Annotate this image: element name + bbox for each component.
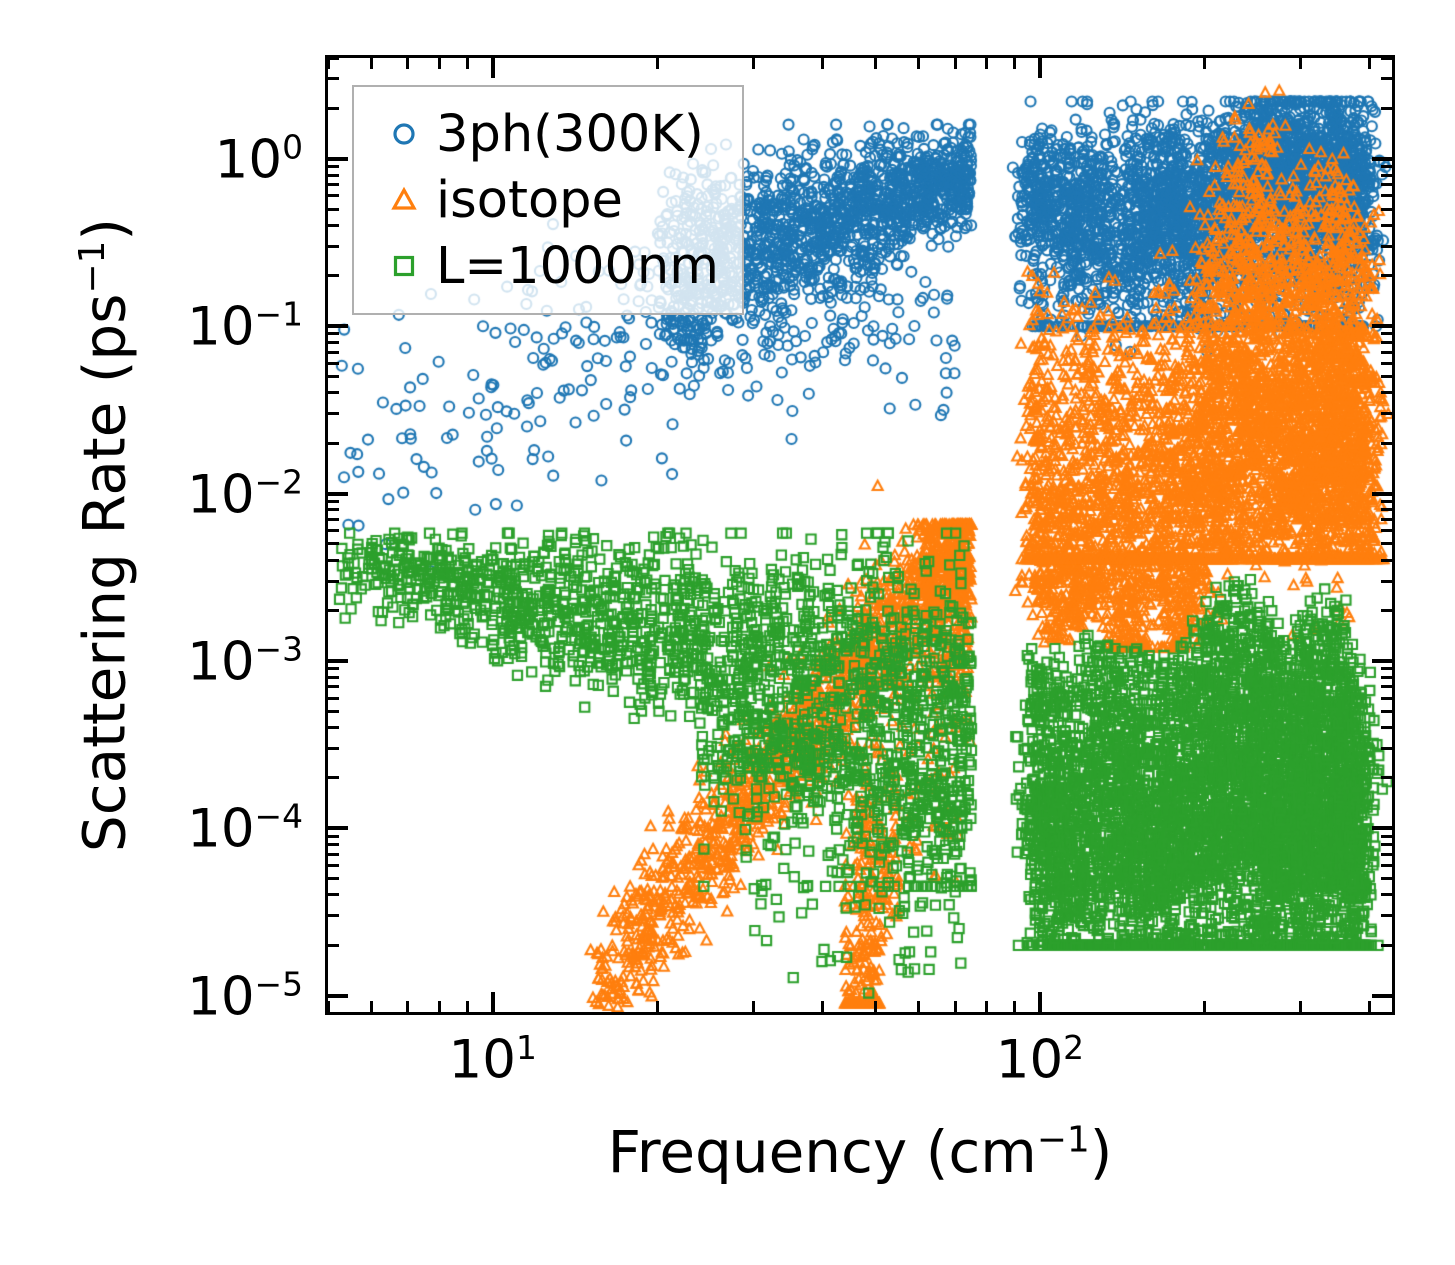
x-tick-label: 101 xyxy=(449,1028,537,1091)
tick-mark xyxy=(328,391,339,394)
tick-mark xyxy=(328,835,339,838)
triangle-marker-icon xyxy=(372,185,436,215)
tick-mark xyxy=(1381,877,1392,880)
tick-mark xyxy=(874,1001,877,1012)
tick-mark xyxy=(328,208,339,211)
tick-mark xyxy=(1368,1001,1371,1012)
tick-mark xyxy=(327,58,330,69)
tick-mark xyxy=(1381,726,1392,729)
tick-mark xyxy=(406,1001,409,1012)
legend-label-boundary: L=1000nm xyxy=(436,241,719,292)
tick-mark xyxy=(328,57,339,60)
tick-mark xyxy=(328,609,339,612)
tick-mark xyxy=(328,529,339,532)
tick-mark xyxy=(1372,994,1392,998)
tick-mark xyxy=(328,776,339,779)
tick-mark xyxy=(656,58,659,69)
tick-mark xyxy=(1372,659,1392,663)
tick-mark xyxy=(1368,58,1371,69)
tick-mark xyxy=(328,412,339,415)
tick-mark xyxy=(328,659,348,663)
tick-mark xyxy=(328,676,339,679)
tick-mark xyxy=(1013,1001,1016,1012)
tick-mark xyxy=(954,1001,957,1012)
y-axis-label: Scattering Rate (ps−1) xyxy=(58,55,128,1015)
tick-mark xyxy=(328,914,339,917)
tick-mark xyxy=(466,58,469,69)
tick-mark xyxy=(1381,442,1392,445)
tick-mark xyxy=(1372,826,1392,830)
tick-mark xyxy=(1381,559,1392,562)
tick-mark xyxy=(1381,375,1392,378)
tick-mark xyxy=(328,667,339,670)
tick-mark xyxy=(821,1001,824,1012)
tick-mark xyxy=(328,877,339,880)
tick-mark xyxy=(1381,208,1392,211)
tick-mark xyxy=(1013,58,1016,69)
x-tick-label: 102 xyxy=(996,1028,1084,1091)
tick-mark xyxy=(1381,412,1392,415)
tick-mark xyxy=(328,157,348,161)
tick-mark xyxy=(328,518,339,521)
tick-mark xyxy=(917,1001,920,1012)
tick-mark xyxy=(1381,518,1392,521)
tick-mark xyxy=(1299,58,1302,69)
tick-mark xyxy=(466,1001,469,1012)
tick-mark xyxy=(328,341,339,344)
tick-mark xyxy=(1381,351,1392,354)
y-tick-label: 10−1 xyxy=(187,295,303,358)
tick-mark xyxy=(328,442,339,445)
tick-mark xyxy=(328,274,339,277)
tick-mark xyxy=(985,58,988,69)
tick-mark xyxy=(1372,157,1392,161)
tick-mark xyxy=(328,826,348,830)
y-tick-label: 100 xyxy=(215,127,303,190)
tick-mark xyxy=(1381,609,1392,612)
tick-mark xyxy=(328,542,339,545)
tick-mark xyxy=(328,726,339,729)
tick-mark xyxy=(1381,914,1392,917)
tick-mark xyxy=(491,58,495,78)
tick-mark xyxy=(438,58,441,69)
tick-mark xyxy=(328,994,348,998)
legend-entry-isotope: isotope xyxy=(372,167,724,233)
tick-mark xyxy=(328,864,339,867)
tick-mark xyxy=(1381,174,1392,177)
tick-mark xyxy=(491,992,495,1012)
tick-mark xyxy=(1381,710,1392,713)
tick-mark xyxy=(917,58,920,69)
tick-mark xyxy=(328,77,339,80)
tick-mark xyxy=(1381,893,1392,896)
tick-mark xyxy=(328,194,339,197)
tick-mark xyxy=(1381,685,1392,688)
tick-mark xyxy=(328,580,339,583)
tick-mark xyxy=(328,324,348,328)
tick-mark xyxy=(1381,274,1392,277)
tick-mark xyxy=(1381,57,1392,60)
tick-mark xyxy=(1381,529,1392,532)
tick-mark xyxy=(1381,853,1392,856)
tick-mark xyxy=(328,183,339,186)
tick-mark xyxy=(370,58,373,69)
tick-mark xyxy=(1381,542,1392,545)
tick-mark xyxy=(328,332,339,335)
tick-mark xyxy=(1038,992,1042,1012)
tick-mark xyxy=(1381,107,1392,110)
tick-mark xyxy=(1381,194,1392,197)
legend-entry-boundary: L=1000nm xyxy=(372,233,724,299)
figure: 10010−110−210−310−410−5 101102 3ph(300K)… xyxy=(0,0,1455,1265)
tick-mark xyxy=(1381,245,1392,248)
tick-mark xyxy=(1381,341,1392,344)
tick-mark xyxy=(328,351,339,354)
tick-mark xyxy=(328,685,339,688)
y-tick-label: 10−2 xyxy=(187,462,303,525)
tick-mark xyxy=(1381,77,1392,80)
tick-mark xyxy=(1203,58,1206,69)
tick-mark xyxy=(1381,864,1392,867)
legend-label-isotope: isotope xyxy=(436,175,623,226)
tick-mark xyxy=(1381,224,1392,227)
tick-mark xyxy=(328,697,339,700)
tick-mark xyxy=(1381,183,1392,186)
tick-mark xyxy=(954,58,957,69)
tick-mark xyxy=(370,1001,373,1012)
tick-mark xyxy=(438,1001,441,1012)
tick-mark xyxy=(328,500,339,503)
tick-mark xyxy=(328,843,339,846)
tick-mark xyxy=(328,853,339,856)
tick-mark xyxy=(328,375,339,378)
tick-mark xyxy=(1381,508,1392,511)
tick-mark xyxy=(328,362,339,365)
legend: 3ph(300K) isotope L=1000nm xyxy=(352,85,744,315)
square-marker-icon xyxy=(372,251,436,281)
circle-marker-icon xyxy=(372,119,436,149)
tick-mark xyxy=(328,559,339,562)
y-tick-label: 10−4 xyxy=(187,797,303,860)
y-tick-label: 10−5 xyxy=(187,964,303,1027)
tick-mark xyxy=(328,107,339,110)
tick-mark xyxy=(328,174,339,177)
tick-mark xyxy=(328,710,339,713)
tick-mark xyxy=(1381,165,1392,168)
y-tick-label: 10−3 xyxy=(187,630,303,693)
tick-mark xyxy=(328,893,339,896)
tick-mark xyxy=(328,944,339,947)
tick-mark xyxy=(821,58,824,69)
tick-mark xyxy=(1381,362,1392,365)
tick-mark xyxy=(1299,1001,1302,1012)
tick-mark xyxy=(1381,580,1392,583)
tick-mark xyxy=(874,58,877,69)
tick-mark xyxy=(406,58,409,69)
tick-mark xyxy=(1381,391,1392,394)
tick-mark xyxy=(328,747,339,750)
tick-mark xyxy=(328,224,339,227)
tick-mark xyxy=(985,1001,988,1012)
tick-mark xyxy=(1038,58,1042,78)
tick-mark xyxy=(327,1001,330,1012)
tick-mark xyxy=(1381,835,1392,838)
tick-mark xyxy=(1381,776,1392,779)
tick-mark xyxy=(656,1001,659,1012)
tick-mark xyxy=(1372,324,1392,328)
tick-mark xyxy=(752,58,755,69)
tick-mark xyxy=(1203,1001,1206,1012)
tick-mark xyxy=(1381,697,1392,700)
tick-mark xyxy=(1381,667,1392,670)
x-axis-label: Frequency (cm−1) xyxy=(325,1118,1395,1186)
tick-mark xyxy=(752,1001,755,1012)
tick-mark xyxy=(328,508,339,511)
tick-mark xyxy=(1381,676,1392,679)
tick-mark xyxy=(1381,843,1392,846)
legend-entry-3ph: 3ph(300K) xyxy=(372,101,724,167)
tick-mark xyxy=(1381,332,1392,335)
tick-mark xyxy=(328,245,339,248)
legend-label-3ph: 3ph(300K) xyxy=(436,109,704,160)
tick-mark xyxy=(1381,500,1392,503)
tick-mark xyxy=(1381,944,1392,947)
tick-mark xyxy=(328,492,348,496)
tick-mark xyxy=(328,165,339,168)
tick-mark xyxy=(1372,492,1392,496)
tick-mark xyxy=(1381,747,1392,750)
